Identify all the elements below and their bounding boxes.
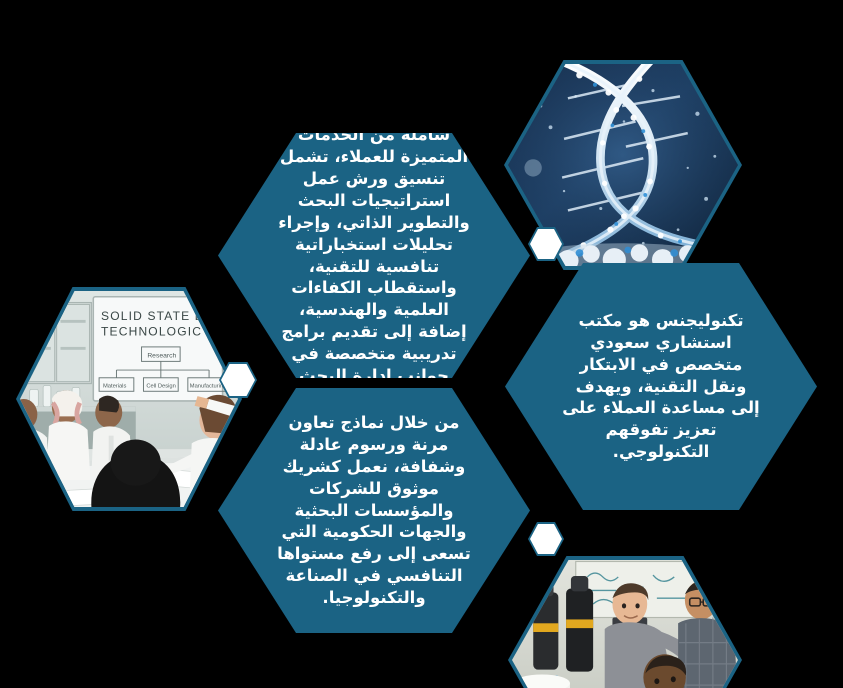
svg-text:Manufacturing: Manufacturing bbox=[190, 383, 227, 389]
meeting-room-photo-clip: SOLID STATE BAT TECHNOLOGIC ROADM Resear… bbox=[20, 291, 238, 507]
connector-hexagon-bottom bbox=[528, 522, 564, 556]
svg-text:SOLID STATE BAT: SOLID STATE BAT bbox=[101, 309, 221, 323]
meeting-room-image: SOLID STATE BAT TECHNOLOGIC ROADM Resear… bbox=[20, 291, 238, 507]
infographic-canvas: نحن نقدم مجموعة شاملة من الخدمات المتميز… bbox=[0, 0, 843, 688]
services-hexagon[interactable]: نحن نقدم مجموعة شاملة من الخدمات المتميز… bbox=[218, 133, 530, 378]
svg-text:Research: Research bbox=[147, 353, 176, 360]
lab-computer-photo-clip bbox=[512, 560, 738, 688]
svg-text:Cell Design: Cell Design bbox=[146, 383, 175, 389]
about-text: تكنوليجنس هو مكتب استشاري سعودي متخصص في… bbox=[557, 310, 765, 464]
svg-text:TECHNOLOGIC ROADM: TECHNOLOGIC ROADM bbox=[101, 324, 238, 338]
partnership-text: من خلال نماذج تعاون مرنة ورسوم عادلة وشف… bbox=[270, 412, 478, 609]
partnership-hexagon[interactable]: من خلال نماذج تعاون مرنة ورسوم عادلة وشف… bbox=[218, 388, 530, 633]
lab-computer-image bbox=[512, 560, 738, 688]
lab-computer-photo-hexagon[interactable] bbox=[508, 556, 742, 688]
about-hexagon[interactable]: تكنوليجنس هو مكتب استشاري سعودي متخصص في… bbox=[505, 263, 817, 510]
meeting-room-photo-hexagon[interactable]: SOLID STATE BAT TECHNOLOGIC ROADM Resear… bbox=[16, 287, 242, 511]
services-text: نحن نقدم مجموعة شاملة من الخدمات المتميز… bbox=[270, 102, 478, 409]
svg-text:Materials: Materials bbox=[103, 383, 127, 389]
